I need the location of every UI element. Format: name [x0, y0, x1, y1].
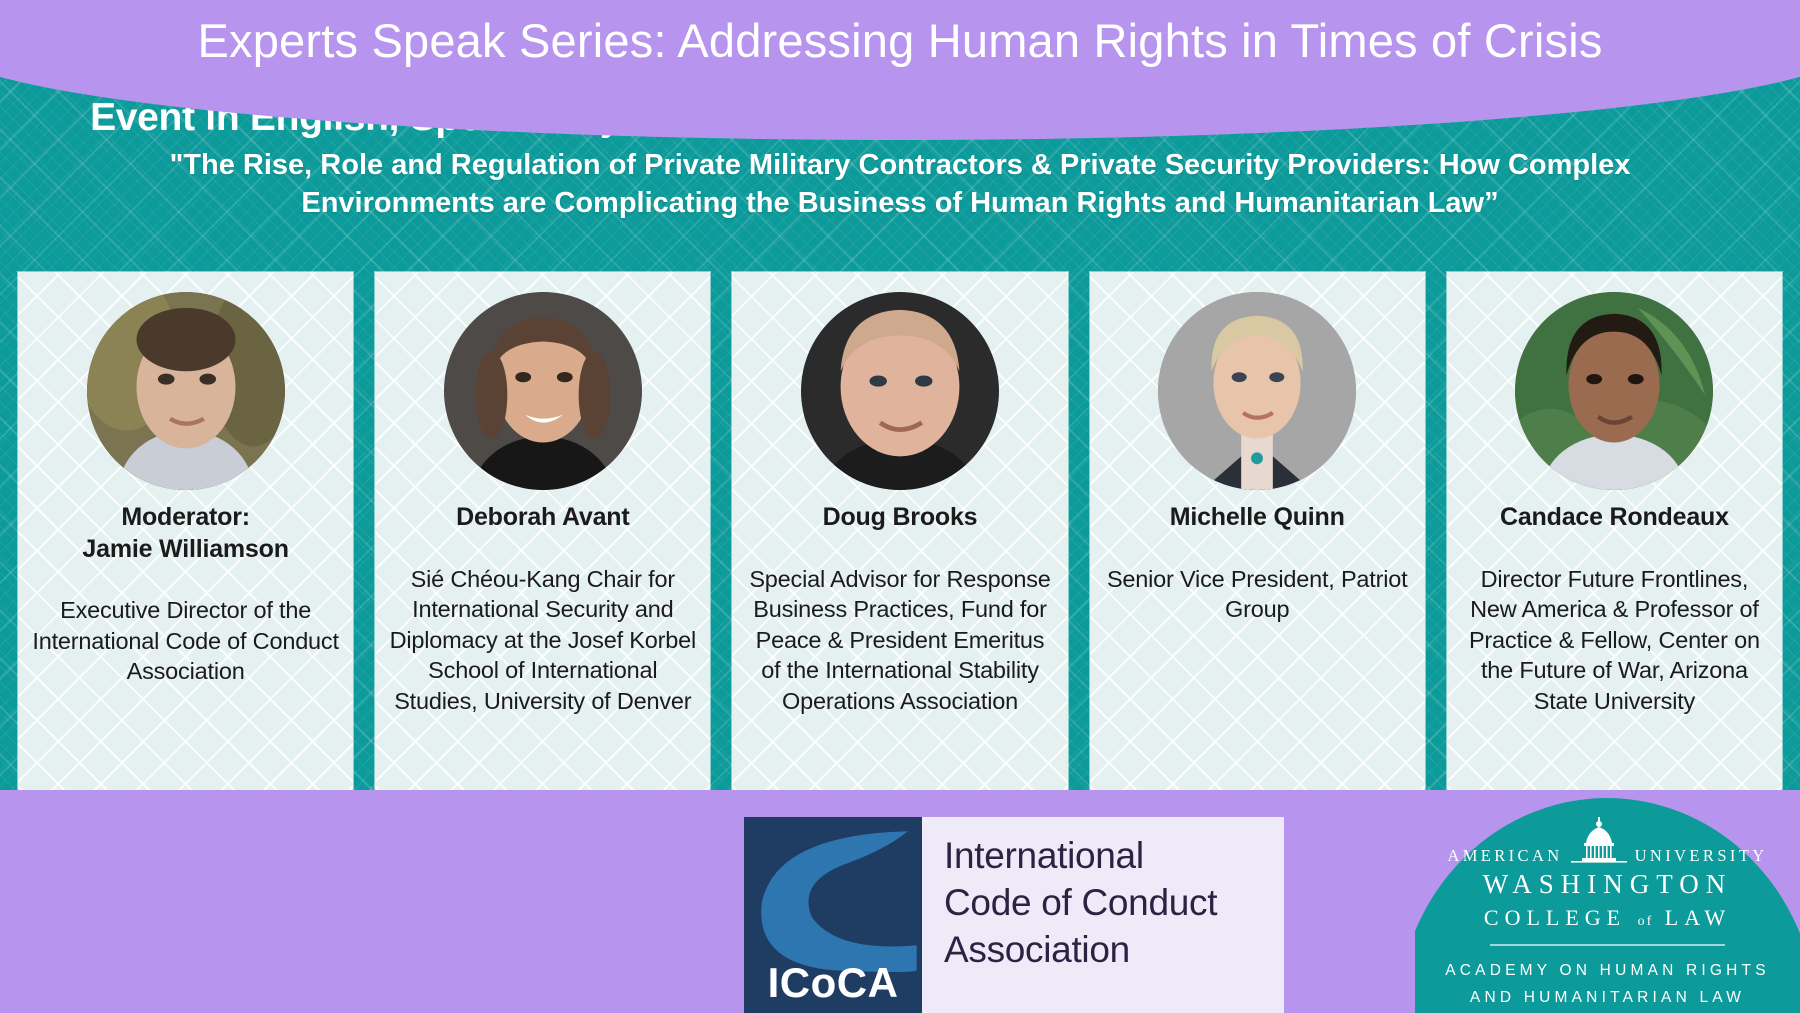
speaker-name-line1: Deborah Avant: [389, 502, 696, 534]
event-subtitle: "The Rise, Role and Regulation of Privat…: [150, 147, 1650, 222]
icoca-wordmark: International Code of Conduct Associatio…: [922, 817, 1284, 1013]
speaker-role: Director Future Frontlines, New America …: [1461, 564, 1768, 717]
speaker-role: Sié Chéou-Kang Chair for International S…: [389, 564, 696, 717]
speaker-card: Doug Brooks Special Advisor for Response…: [732, 272, 1067, 790]
speaker-name-line1: Michelle Quinn: [1104, 502, 1411, 534]
speaker-name-line1: Doug Brooks: [746, 502, 1053, 534]
avatar: [1515, 292, 1713, 490]
au-academy-line2: AND HUMANITARIAN LAW: [1415, 984, 1800, 1011]
avatar: [444, 292, 642, 490]
speaker-role: Executive Director of the International …: [32, 595, 339, 687]
speaker-name-line1: Candace Rondeaux: [1461, 502, 1768, 534]
au-word-university: UNIVERSITY: [1635, 846, 1768, 866]
au-word-law: LAW: [1665, 905, 1731, 930]
speaker-name: Moderator: Jamie Williamson: [32, 502, 339, 565]
avatar: [87, 292, 285, 490]
icoca-word-line1: International: [944, 833, 1284, 880]
speaker-name: Deborah Avant: [389, 502, 696, 534]
au-line-college-of-law: COLLEGE of LAW: [1415, 905, 1800, 931]
speaker-name-line1: Moderator:: [32, 502, 339, 534]
page-title: Experts Speak Series: Addressing Human R…: [80, 14, 1720, 68]
au-academy-line1: ACADEMY ON HUMAN RIGHTS: [1415, 957, 1800, 984]
speaker-name: Doug Brooks: [746, 502, 1053, 534]
icoca-abbr: ICoCA: [744, 959, 922, 1007]
capitol-dome-icon: [1569, 816, 1629, 866]
icoca-word-line3: Association: [944, 927, 1284, 974]
speaker-name: Michelle Quinn: [1104, 502, 1411, 534]
speaker-role: Special Advisor for Response Business Pr…: [746, 564, 1053, 717]
speaker-card-row: Moderator: Jamie Williamson Executive Di…: [0, 272, 1800, 790]
speaker-role: Senior Vice President, Patriot Group: [1104, 564, 1411, 625]
speaker-card: Moderator: Jamie Williamson Executive Di…: [18, 272, 353, 790]
avatar: [1158, 292, 1356, 490]
speaker-card: Candace Rondeaux Director Future Frontli…: [1447, 272, 1782, 790]
au-divider: [1490, 944, 1725, 946]
icoca-logo: ICoCA International Code of Conduct Asso…: [744, 817, 1284, 1013]
au-word-college: COLLEGE: [1484, 905, 1626, 930]
icoca-word-line2: Code of Conduct: [944, 880, 1284, 927]
avatar: [801, 292, 999, 490]
au-line-american-university: AMERICAN: [1415, 816, 1800, 866]
au-line-washington: WASHINGTON: [1415, 869, 1800, 900]
speaker-card: Michelle Quinn Senior Vice President, Pa…: [1090, 272, 1425, 790]
speaker-name: Candace Rondeaux: [1461, 502, 1768, 534]
american-university-wcl-logo: AMERICAN: [1415, 798, 1800, 1013]
au-word-of: of: [1638, 914, 1654, 929]
icoca-mark-icon: ICoCA: [744, 817, 922, 1013]
au-word-american: AMERICAN: [1447, 846, 1562, 866]
speaker-card: Deborah Avant Sié Chéou-Kang Chair for I…: [375, 272, 710, 790]
speaker-name-line2: Jamie Williamson: [32, 534, 339, 566]
